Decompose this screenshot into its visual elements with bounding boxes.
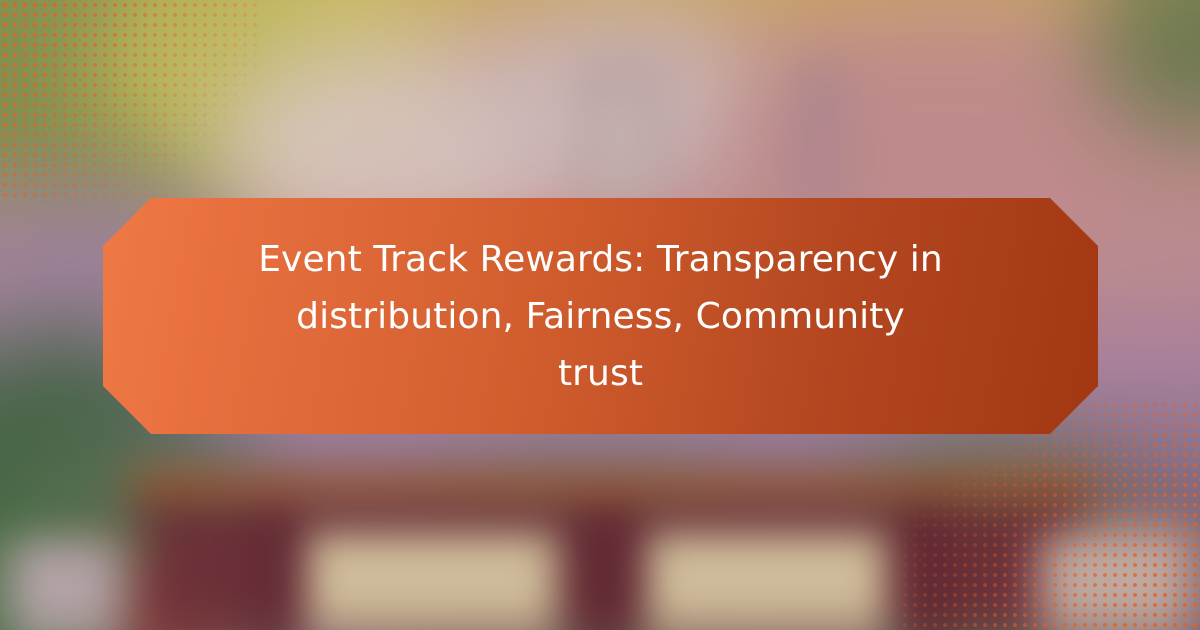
halftone-dots-bottom-right (900, 400, 1200, 630)
background-facade-post (255, 505, 295, 630)
background-blob-cloud-center (470, 10, 770, 220)
background-blob-foliage-bottom-left (0, 470, 280, 630)
halftone-dots-top-left (0, 0, 260, 200)
background-blob-sky-yellow (90, 0, 450, 190)
background-facade-panel (300, 528, 560, 630)
background-facade-panel (640, 528, 890, 630)
background-facade-beam (130, 470, 1090, 500)
page-title: Event Track Rewards: Transparency in dis… (181, 231, 1021, 402)
background-blob-flower-red (90, 540, 250, 630)
background-blob-mauve-bottom-right (1010, 470, 1200, 630)
background-blob-mauve-lower (60, 430, 360, 610)
background-blob-foliage-bottom-right (830, 440, 1150, 630)
background-facade-post (580, 505, 635, 630)
background-facade-shadow (140, 498, 1085, 518)
background-facade-panel (1040, 530, 1190, 630)
poster-canvas: Event Track Rewards: Transparency in dis… (0, 0, 1200, 630)
background-facade-wall (150, 505, 1070, 630)
title-banner: Event Track Rewards: Transparency in dis… (103, 198, 1098, 434)
background-facade-post (905, 505, 953, 630)
background-blob-foliage-bottom-mid (380, 470, 800, 630)
background-building-upper-left (575, 55, 670, 205)
background-building-upper-right (790, 60, 850, 210)
background-facade-panel (10, 540, 120, 630)
background-blob-foliage-top-right (1090, 0, 1200, 140)
background-building-upper-inner (585, 95, 655, 195)
